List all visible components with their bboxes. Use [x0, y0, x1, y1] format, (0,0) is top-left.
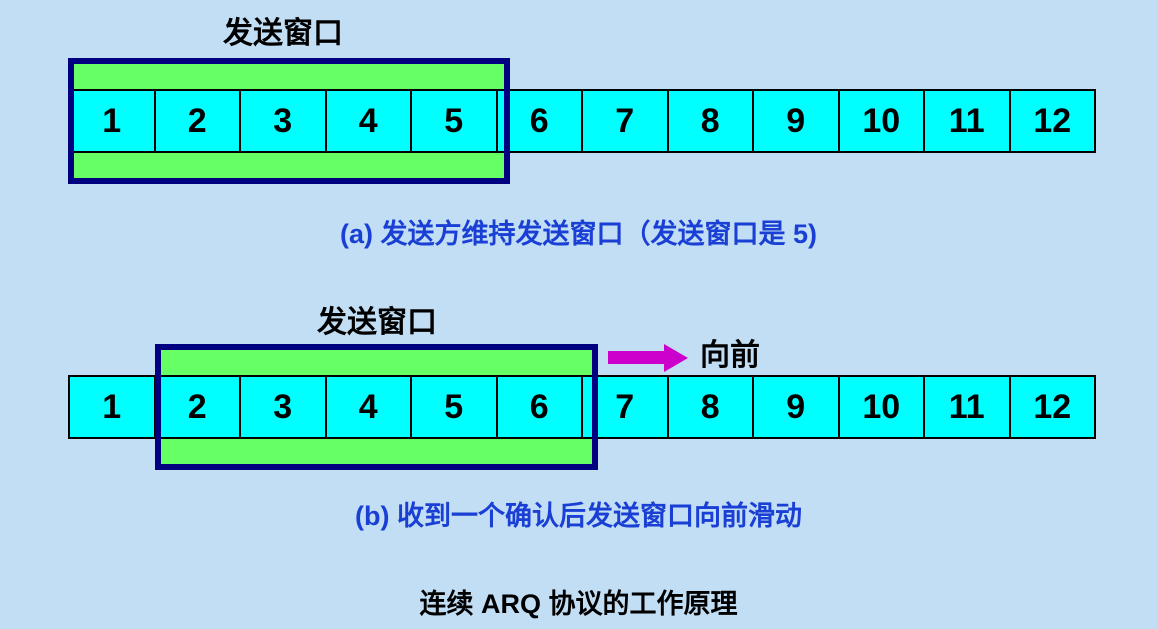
caption-a: (a) 发送方维持发送窗口（发送窗口是 5) — [0, 212, 1157, 251]
frame-b-cell: 11 — [923, 375, 1011, 439]
frame-b-cell: 9 — [752, 375, 840, 439]
caption-b: (b) 收到一个确认后发送窗口向前滑动 — [0, 494, 1157, 533]
frame-a-cell: 3 — [239, 89, 327, 153]
frame-a-cell: 9 — [752, 89, 840, 153]
arrow-head-icon — [664, 344, 688, 372]
frame-b-cell: 4 — [325, 375, 413, 439]
frame-b-cell: 7 — [581, 375, 669, 439]
arrow-label-forward: 向前 — [700, 330, 760, 374]
frame-strip-b: 123456789101112 — [68, 375, 1096, 439]
frame-b-cell: 10 — [838, 375, 926, 439]
frame-a-cell: 12 — [1009, 89, 1097, 153]
frame-a-cell: 1 — [68, 89, 156, 153]
slide-canvas: 发送窗口 123456789101112 (a) 发送方维持发送窗口（发送窗口是… — [0, 0, 1157, 629]
arrow-shaft — [608, 351, 666, 364]
slide-forward-arrow — [608, 343, 708, 373]
frame-a-cell: 6 — [496, 89, 584, 153]
frame-a-cell: 2 — [154, 89, 242, 153]
footer-title: 连续 ARQ 协议的工作原理 — [0, 582, 1157, 621]
window-label-b: 发送窗口 — [277, 297, 477, 341]
frame-a-cell: 11 — [923, 89, 1011, 153]
frame-b-cell: 5 — [410, 375, 498, 439]
window-green-bar-bottom-b — [161, 439, 592, 464]
window-green-bar-bottom-a — [74, 153, 504, 178]
frame-b-cell: 8 — [667, 375, 755, 439]
frame-strip-a: 123456789101112 — [68, 89, 1096, 153]
frame-a-cell: 4 — [325, 89, 413, 153]
frame-a-cell: 10 — [838, 89, 926, 153]
frame-a-cell: 8 — [667, 89, 755, 153]
frame-b-cell: 6 — [496, 375, 584, 439]
frame-a-cell: 5 — [410, 89, 498, 153]
window-label-a: 发送窗口 — [183, 8, 383, 52]
frame-a-cell: 7 — [581, 89, 669, 153]
window-green-bar-top-b — [161, 350, 592, 375]
frame-b-cell: 3 — [239, 375, 327, 439]
window-green-bar-top-a — [74, 64, 504, 89]
frame-b-cell: 2 — [154, 375, 242, 439]
frame-b-cell: 12 — [1009, 375, 1097, 439]
frame-b-cell: 1 — [68, 375, 156, 439]
